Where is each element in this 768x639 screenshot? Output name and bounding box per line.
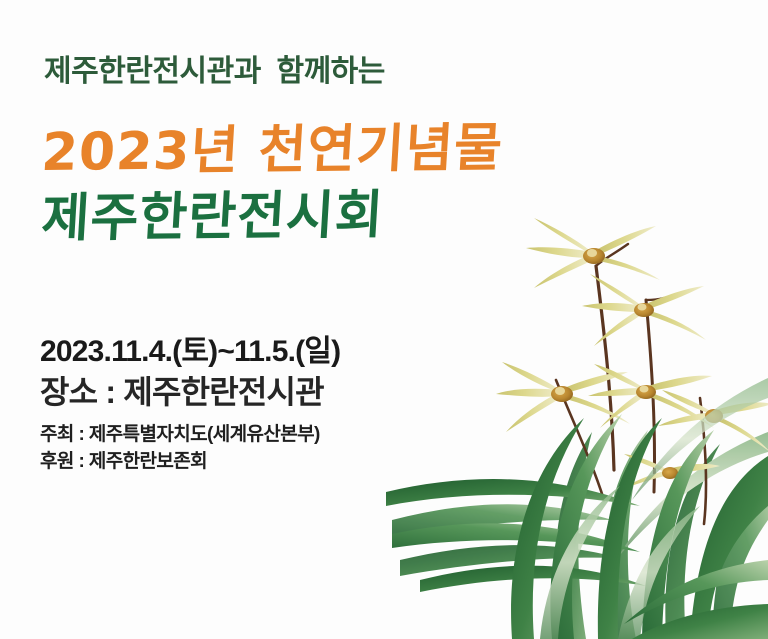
poster-headline-line2: 제주한란전시회 [40, 172, 387, 251]
event-venue: 장소 : 제주한란전시관 [40, 367, 324, 413]
orchid-flower [658, 390, 768, 452]
event-organizer: 주최 : 제주특별자치도(세계유산본부) [40, 419, 320, 446]
orchid-flower [588, 364, 714, 428]
orchid-stems [556, 244, 706, 524]
poster-text-block: 제주한란전시관과 함께하는 2023년 천연기념물 제주한란전시회 2023.1… [0, 0, 560, 639]
event-sponsor: 후원 : 제주한란보존회 [40, 446, 207, 473]
event-date: 2023.11.4.(토)~11.5.(일) [40, 326, 340, 370]
poster-subtitle: 제주한란전시관과 함께하는 [44, 46, 385, 90]
orchid-flower [624, 454, 720, 488]
poster-canvas: 제주한란전시관과 함께하는 2023년 천연기념물 제주한란전시회 2023.1… [0, 0, 768, 639]
orchid-flower [582, 274, 706, 346]
